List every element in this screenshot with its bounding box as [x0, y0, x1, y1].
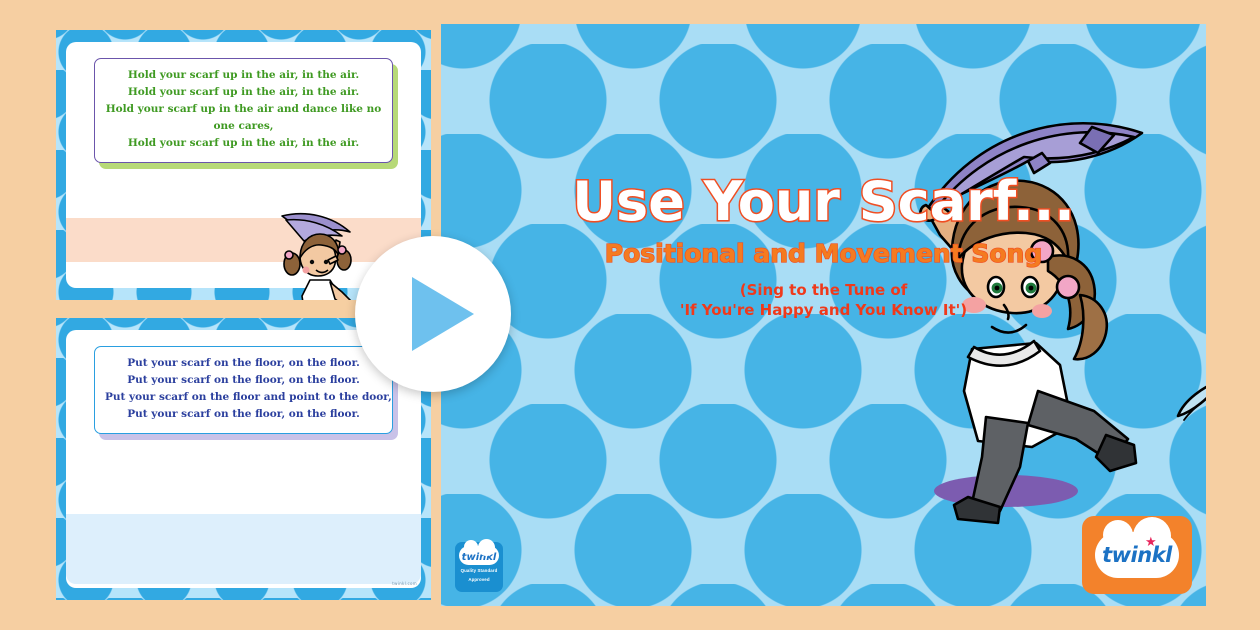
lyrics-box: Hold your scarf up in the air, in the ai… [94, 58, 393, 163]
lyric-line: Put your scarf on the floor and point to… [105, 389, 382, 406]
star-icon: ★ [1145, 534, 1157, 550]
thumbnail-slide-canvas: Hold your scarf up in the air, in the ai… [66, 42, 421, 288]
main-slide-preview[interactable]: Use Your Scarf... Positional and Movemen… [441, 24, 1206, 606]
watermark: twinkl.com [392, 581, 417, 586]
badge-line-1: Quality Standard [455, 568, 503, 574]
play-button[interactable] [355, 236, 511, 392]
twinkl-wordmark: twinkl [1095, 532, 1179, 578]
lyric-line: Put your scarf on the floor, on the floo… [105, 372, 382, 389]
preview-stage: Hold your scarf up in the air, in the ai… [0, 0, 1260, 630]
lyric-line: Hold your scarf up in the air, in the ai… [105, 84, 382, 101]
play-triangle-icon [412, 277, 474, 351]
twinkl-wordmark: twinkl [459, 552, 499, 563]
quality-standard-approved-badge: twinkl Quality Standard Approved [455, 542, 503, 592]
girl-with-purple-scarf-illustration [896, 99, 1146, 529]
lyric-line: Hold your scarf up in the air, in the ai… [105, 67, 382, 84]
floor-band [66, 514, 421, 584]
lyric-line: Put your scarf on the floor, on the floo… [105, 406, 382, 423]
cloud-icon: twinkl [459, 546, 499, 565]
twinkl-logo: ★ twinkl [1082, 516, 1192, 594]
lyric-line: Hold your scarf up in the air, in the ai… [105, 135, 382, 152]
lyrics-box: Put your scarf on the floor, on the floo… [94, 346, 393, 434]
slide-thumbnail-1[interactable]: Hold your scarf up in the air, in the ai… [56, 30, 431, 300]
badge-line-2: Approved [455, 577, 503, 583]
lyric-line: Put your scarf on the floor, on the floo… [105, 355, 382, 372]
thumbnail-slide-canvas: Put your scarf on the floor, on the floo… [66, 330, 421, 588]
lyric-line: Hold your scarf up in the air and dance … [105, 101, 382, 135]
cloud-icon: ★ twinkl [1095, 532, 1179, 578]
